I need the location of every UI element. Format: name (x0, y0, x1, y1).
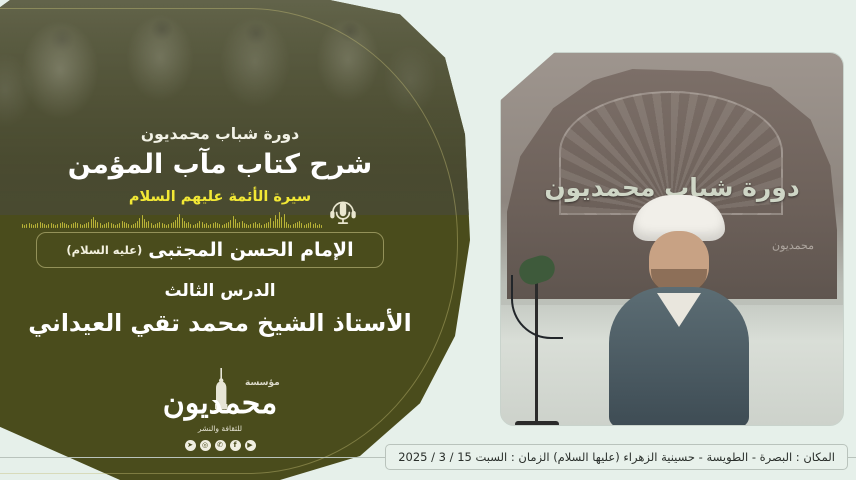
page-title: شرح كتاب مآب المؤمن (0, 148, 440, 182)
imam-name: الإمام الحسن المجتبى (148, 239, 353, 261)
youtube-icon[interactable]: ▶ (245, 440, 256, 451)
wall-banner-logo: محمديون (763, 239, 823, 283)
telegram-icon[interactable]: ➤ (185, 440, 196, 451)
facebook-icon[interactable]: f (230, 440, 241, 451)
audio-waveform-icon (22, 206, 322, 228)
social-links[interactable]: ▶ f ✆ ◎ ➤ (145, 440, 295, 451)
microphone-base (515, 421, 559, 426)
event-details-bar: المكان : البصرة - الطويسة - حسينية الزهر… (385, 444, 848, 470)
imam-honorific: (عليه السلام) (66, 243, 142, 257)
speaker-figure (605, 195, 753, 425)
poster-canvas: دورة شباب محمديون محمديون دورة شباب محمد… (0, 0, 856, 480)
series-subtitle: سيرة الأئمة عليهم السلام (0, 189, 440, 205)
status-badge: الإمام الحسن المجتبى (عليه السلام) (36, 232, 384, 268)
speaker-name: الأستاذ الشيخ محمد تقي العيداني (0, 309, 440, 337)
logo-name: محمديون (145, 386, 295, 421)
instagram-icon[interactable]: ◎ (200, 440, 211, 451)
podcast-microphone-headphones-icon (326, 196, 360, 230)
logo-tagline: للثقافة والنشر (145, 424, 295, 433)
video-panel[interactable]: دورة شباب محمديون محمديون (500, 52, 844, 426)
organization-logo[interactable]: مؤسسة محمديون للثقافة والنشر ▶ f ✆ ◎ ➤ (0, 366, 440, 466)
whatsapp-icon[interactable]: ✆ (215, 440, 226, 451)
lesson-number: الدرس الثالث (0, 281, 440, 301)
course-kicker: دورة شباب محمديون (0, 125, 440, 143)
video-still: دورة شباب محمديون محمديون (501, 53, 843, 425)
poster-content: دورة شباب محمديون شرح كتاب مآب المؤمن سي… (0, 0, 440, 480)
